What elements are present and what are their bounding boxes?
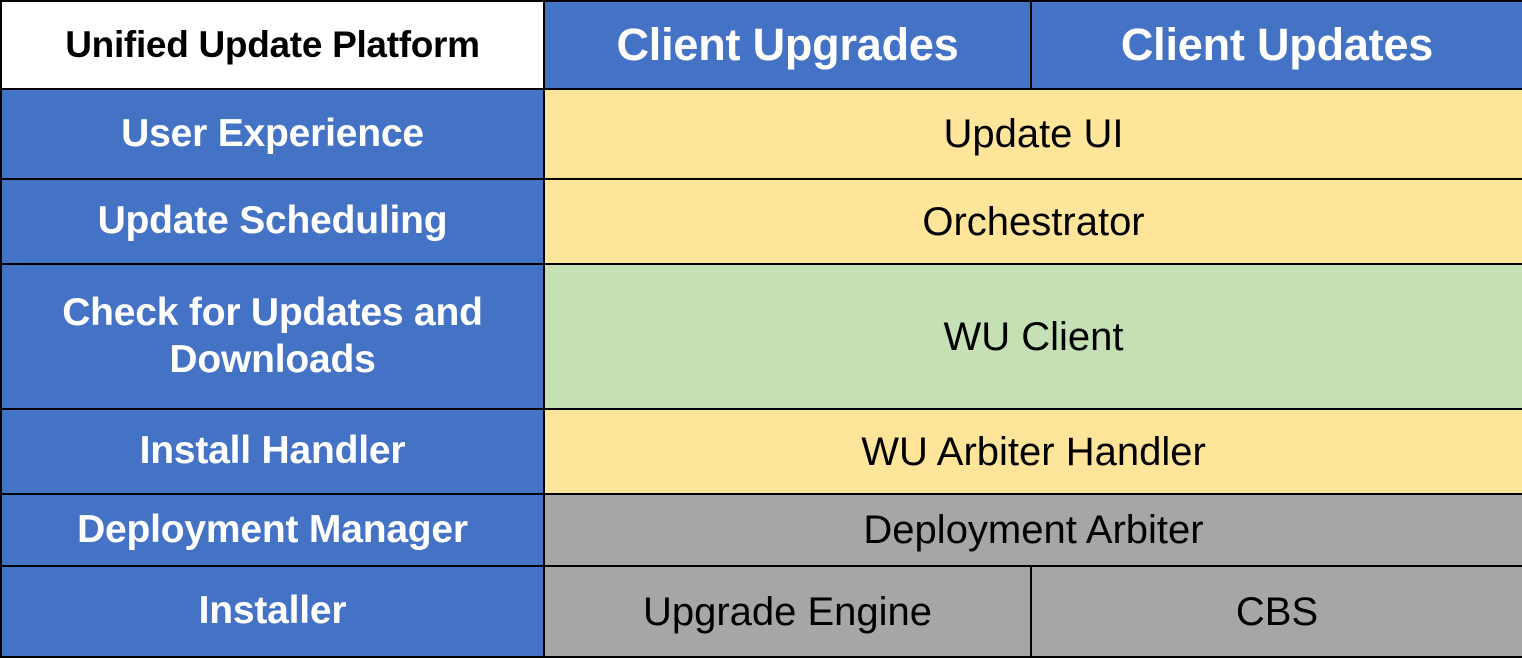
row-label-install-handler: Install Handler	[1, 409, 544, 494]
row-label-text: Check for Updates and Downloads	[2, 290, 543, 384]
row-label-text: Update Scheduling	[2, 198, 543, 245]
row-label-update-scheduling: Update Scheduling	[1, 179, 544, 264]
cell-text: Orchestrator	[545, 200, 1522, 244]
row-label-text: Install Handler	[2, 428, 543, 475]
table-row: Check for Updates and Downloads WU Clien…	[1, 264, 1522, 409]
row-label-deployment-manager: Deployment Manager	[1, 494, 544, 566]
column-header-label: Client Updates	[1032, 21, 1522, 68]
table-row: Installer Upgrade Engine CBS	[1, 566, 1522, 657]
table-header-row: Unified Update Platform Client Upgrades …	[1, 1, 1522, 89]
cell-deployment-arbiter: Deployment Arbiter	[544, 494, 1522, 566]
row-label-installer: Installer	[1, 566, 544, 657]
column-header-client-upgrades: Client Upgrades	[544, 1, 1031, 89]
column-header-label: Client Upgrades	[545, 21, 1030, 68]
table-row: Deployment Manager Deployment Arbiter	[1, 494, 1522, 566]
table-title-cell: Unified Update Platform	[1, 1, 544, 89]
cell-text: WU Client	[545, 315, 1522, 359]
row-label-text: User Experience	[2, 111, 543, 158]
page-title: Unified Update Platform	[2, 26, 543, 65]
cell-text: Deployment Arbiter	[545, 508, 1522, 552]
row-label-text: Installer	[2, 588, 543, 635]
cell-text: Upgrade Engine	[545, 590, 1030, 634]
cell-update-ui: Update UI	[544, 89, 1522, 179]
cell-wu-client: WU Client	[544, 264, 1522, 409]
cell-orchestrator: Orchestrator	[544, 179, 1522, 264]
column-header-client-updates: Client Updates	[1031, 1, 1522, 89]
cell-cbs: CBS	[1031, 566, 1522, 657]
table-row: Install Handler WU Arbiter Handler	[1, 409, 1522, 494]
cell-text: CBS	[1032, 590, 1522, 634]
row-label-check-for-updates-and-downloads: Check for Updates and Downloads	[1, 264, 544, 409]
cell-wu-arbiter-handler: WU Arbiter Handler	[544, 409, 1522, 494]
cell-text: WU Arbiter Handler	[545, 430, 1522, 474]
table-row: Update Scheduling Orchestrator	[1, 179, 1522, 264]
row-label-user-experience: User Experience	[1, 89, 544, 179]
cell-text: Update UI	[545, 112, 1522, 156]
unified-update-platform-table: Unified Update Platform Client Upgrades …	[0, 0, 1522, 658]
row-label-text: Deployment Manager	[2, 507, 543, 554]
cell-upgrade-engine: Upgrade Engine	[544, 566, 1031, 657]
table-row: User Experience Update UI	[1, 89, 1522, 179]
